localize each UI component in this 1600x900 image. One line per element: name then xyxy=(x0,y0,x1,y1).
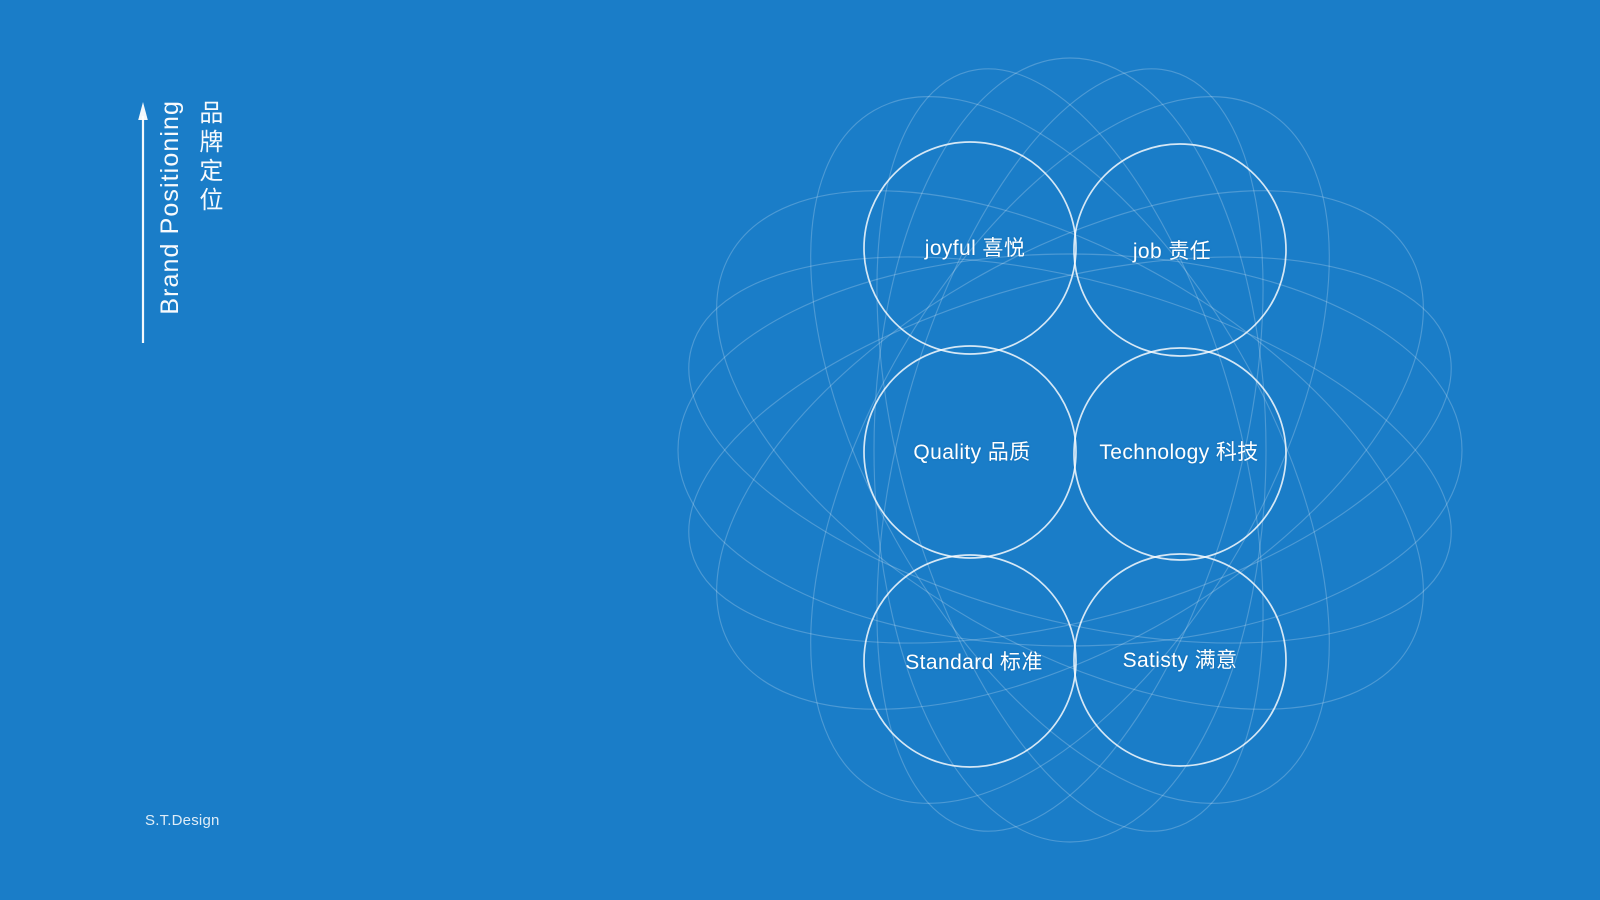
circle-label-quality: Quality 品质 xyxy=(913,436,1030,466)
title-block: Brand Positioning 品牌定位 xyxy=(132,100,252,360)
circle-label-joyful: joyful 喜悦 xyxy=(925,232,1025,262)
circle-label-satisty: Satisty 满意 xyxy=(1123,644,1238,674)
circle-label-standard: Standard 标准 xyxy=(905,646,1042,676)
title-text-group: Brand Positioning 品牌定位 xyxy=(152,100,221,350)
circle-cluster xyxy=(640,20,1500,880)
circle-label-job: job 责任 xyxy=(1133,235,1211,265)
title-english: Brand Positioning xyxy=(158,100,183,315)
footer-credit: S.T.Design xyxy=(145,812,220,829)
brand-positioning-diagram: joyful 喜悦 job 责任 Quality 品质 Technology 科… xyxy=(640,20,1500,880)
circle-label-technology: Technology 科技 xyxy=(1099,436,1258,466)
title-chinese: 品牌定位 xyxy=(195,100,221,216)
upward-arrow-icon xyxy=(132,100,154,345)
slide-canvas: Brand Positioning 品牌定位 xyxy=(0,0,1600,900)
